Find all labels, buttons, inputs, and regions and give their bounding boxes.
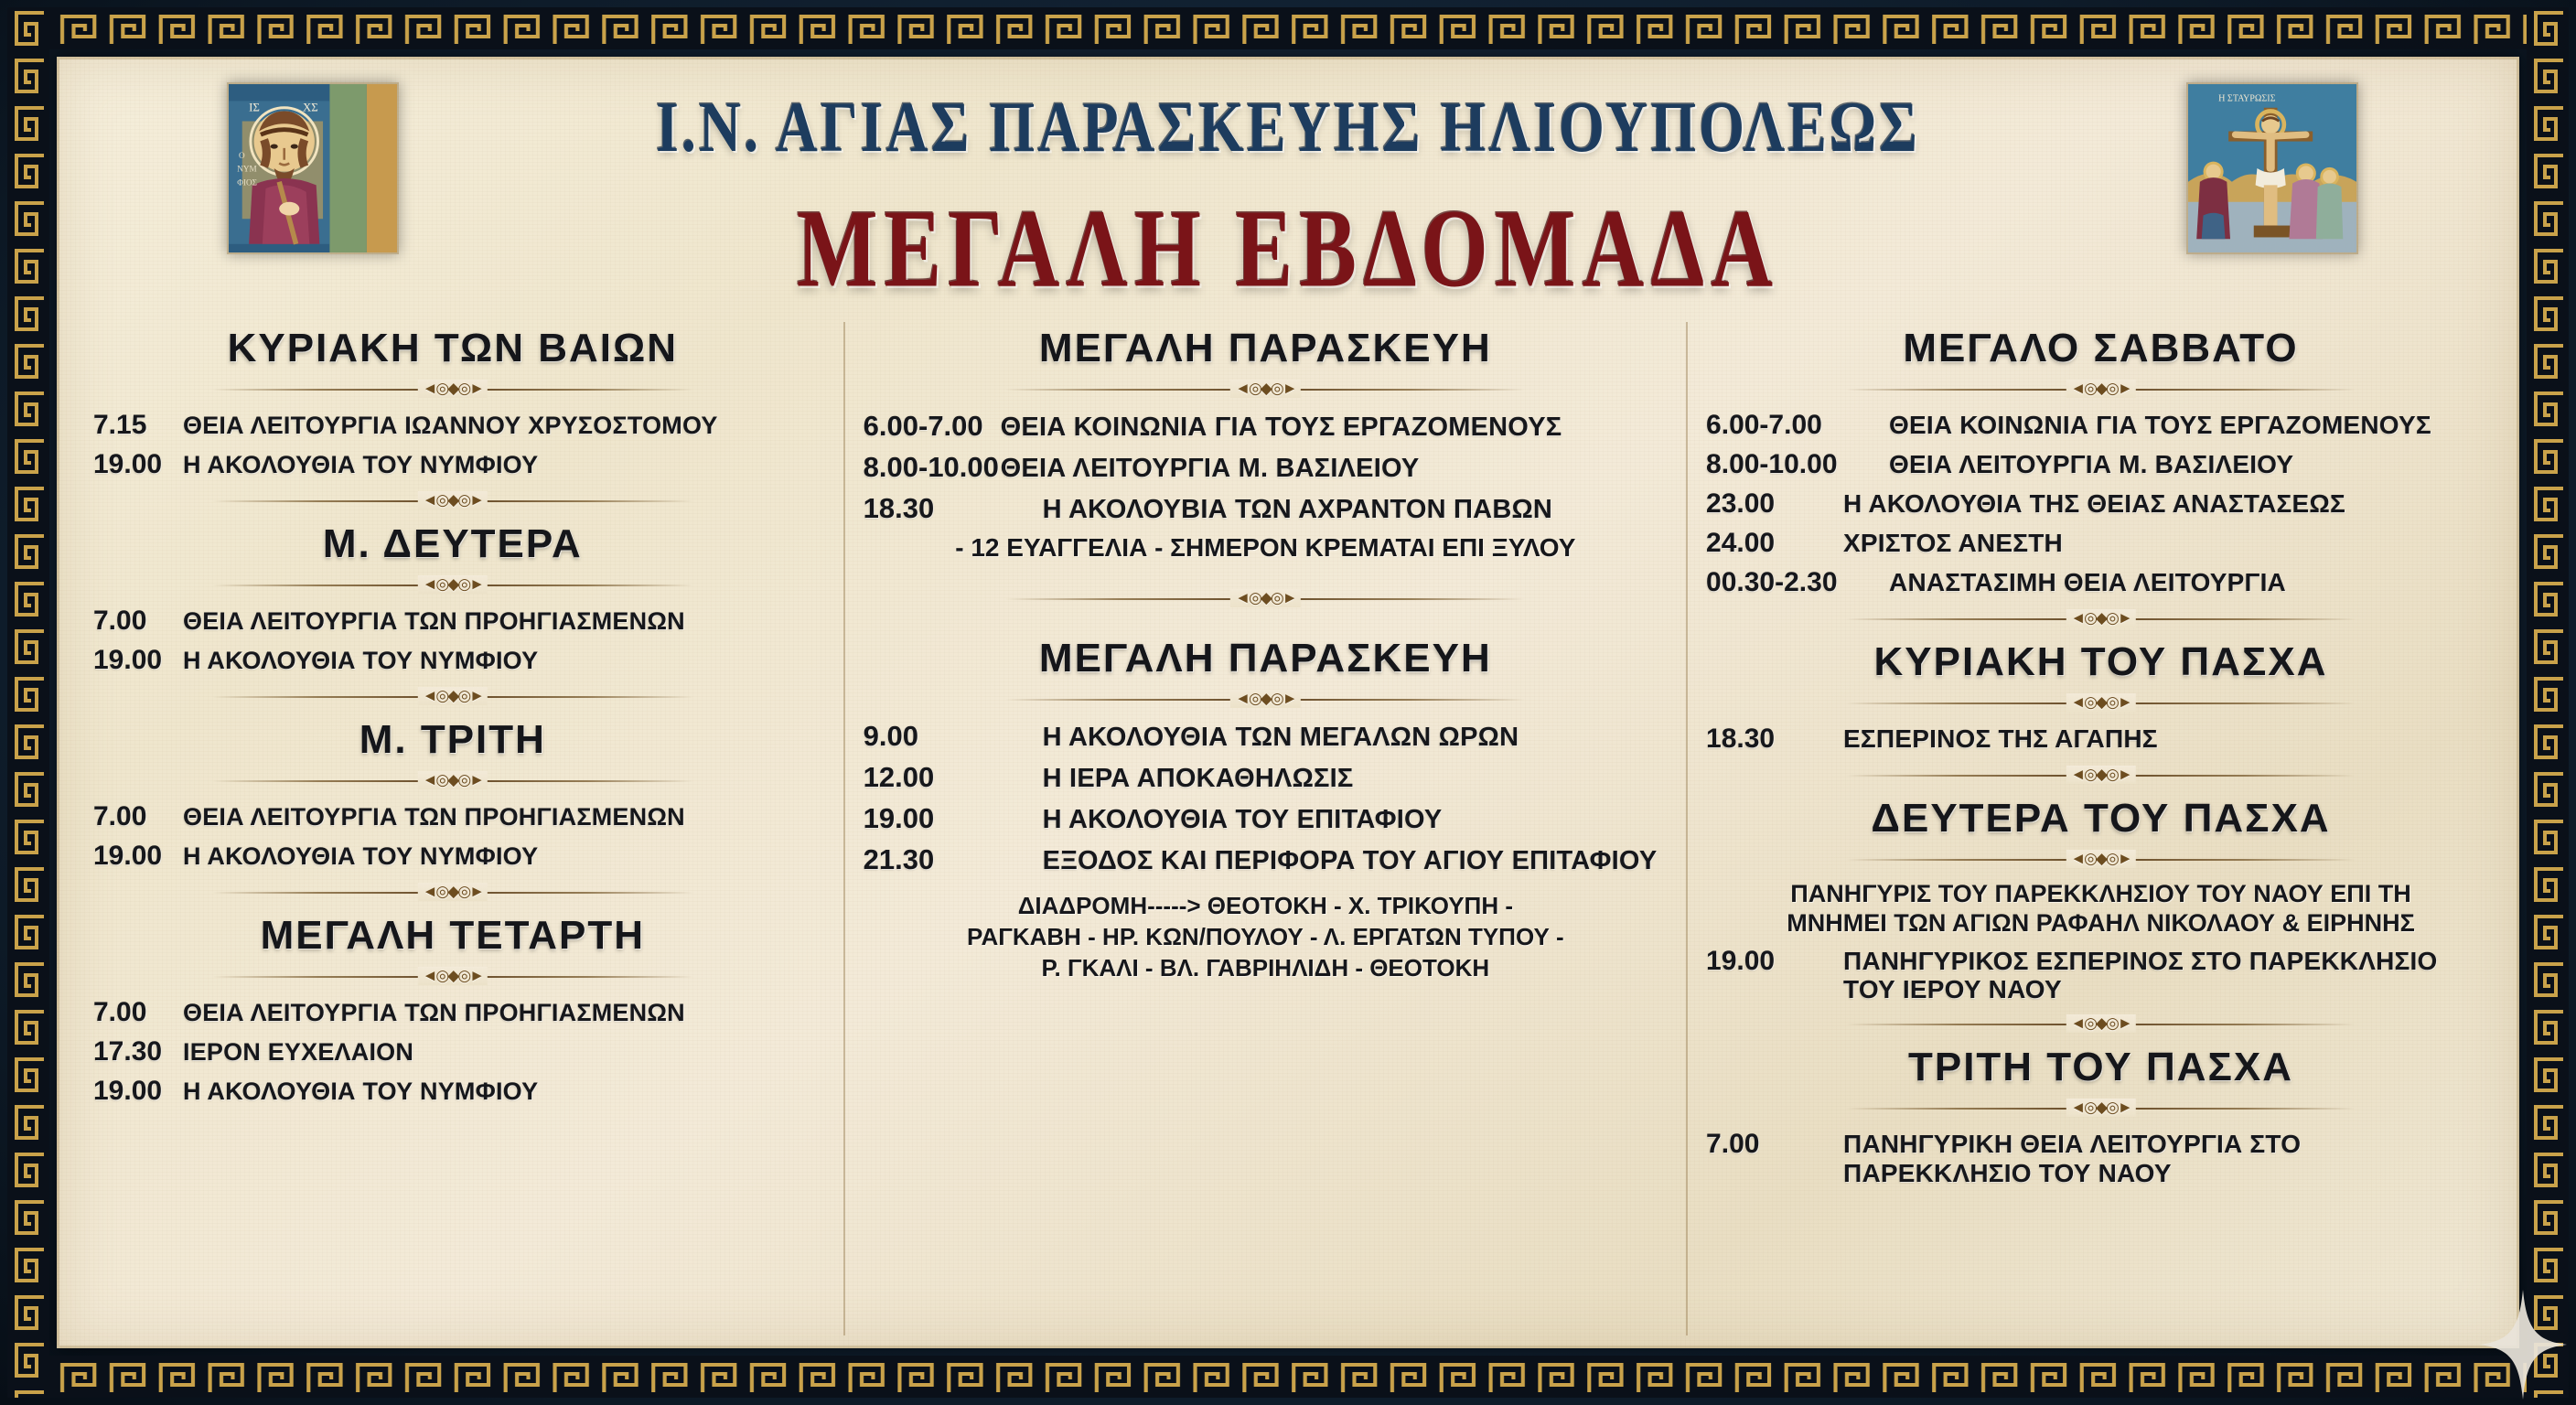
section-title: ΚΥΡΙΑΚΗ ΤΟΥ ΠΑΣΧΑ [1702,639,2499,685]
ornament-divider [1846,691,2356,714]
row-desc: Η ΙΕΡΑ ΑΠΟΚΑΘΗΛΩΣΙΣ [1043,764,1354,793]
schedule-row: 24.00 ΧΡΙΣΤΟΣ ΑΝΕΣΤΗ [1706,528,2495,559]
section-deftera-tou-pascha: ΔΕΥΤΕΡΑ ΤΟΥ ΠΑΣΧΑ ΠΑΝΗΓΥΡΙΣ ΤΟΥ ΠΑΡΕΚΚΛΗ… [1702,796,2499,1003]
ornament-divider [212,377,693,401]
route-line: ΡΑΓΚΑΒΗ - ΗΡ. ΚΩΝ/ΠΟΥΛΟΥ - Λ. ΕΡΓΑΤΩΝ ΤΥ… [860,922,1671,953]
schedule-row: 7.00 ΘΕΙΑ ΛΕΙΤΟΥΡΓΙΑ ΤΩΝ ΠΡΟΗΓΙΑΣΜΕΝΩΝ [80,801,825,832]
schedule-row: 21.30 ΕΞΟΔΟΣ ΚΑΙ ΠΕΡΙΦΟΡΑ ΤΟΥ ΑΓΙΟΥ ΕΠΙΤ… [864,843,1668,876]
page-title-church: Ι.Ν. ΑΓΙΑΣ ΠΑΡΑΣΚΕΥΗΣ ΗΛΙΟΥΠΟΛΕΩΣ [656,86,1920,168]
svg-text:Η ΣΤΑΥΡΩΣΙΣ: Η ΣΤΑΥΡΩΣΙΣ [2218,93,2276,103]
row-time: 7.15 [80,410,183,441]
route-line: Ρ. ΓΚΑΛΙ - ΒΛ. ΓΑΒΡΙΗΛΙΔΗ - ΘΕΟΤΟΚΗ [860,953,1671,984]
section-title: ΜΕΓΑΛΗ ΠΑΡΑΣΚΕΥΗ [860,326,1671,371]
meander-top-svg [7,7,2569,49]
ornament-divider [1846,377,2356,401]
ornament-divider [1846,847,2356,871]
section-rows: 7.00 ΠΑΝΗΓΥΡΙΚΗ ΘΕΙΑ ΛΕΙΤΟΥΡΓΙΑ ΣΤΟ ΠΑΡΕ… [1702,1129,2499,1187]
schedule-columns: ΚΥΡΙΑΚΗ ΤΩΝ ΒΑΙΩΝ 7.15 ΘΕΙΑ ΛΕΙΤΟΥΡΓΙΑ Ι… [57,322,2519,1348]
icon-christ-nymphios: ΙΣ ΧΣ Ο ΝΥΜ ΦΙΟΣ [227,82,399,254]
schedule-row: 18.30 Η ΑΚΟΛΟΥΒΙΑ ΤΩΝ ΑΧΡΑΝΤΟΝ ΠΑΒΩΝ [864,492,1668,525]
crucifixion-artwork: Η ΣΤΑΥΡΩΣΙΣ [2188,84,2356,252]
svg-text:Ο: Ο [239,151,245,160]
row-desc: ΘΕΙΑ ΛΕΙΤΟΥΡΓΙΑ ΤΩΝ ΠΡΟΗΓΙΑΣΜΕΝΩΝ [183,803,685,831]
row-time: 6.00-7.00 [864,410,1001,443]
ornament-divider [212,768,693,792]
section-rows: 7.00 ΘΕΙΑ ΛΕΙΤΟΥΡΓΙΑ ΤΩΝ ΠΡΟΗΓΙΑΣΜΕΝΩΝ 1… [77,997,829,1107]
meander-right-svg [2527,7,2569,1398]
row-time: 7.00 [80,801,183,832]
svg-text:ΦΙΟΣ: ΦΙΟΣ [237,177,257,187]
section-rows: 7.15 ΘΕΙΑ ΛΕΙΤΟΥΡΓΙΑ ΙΩΑΝΝΟΥ ΧΡΥΣΟΣΤΟΜΟΥ… [77,410,829,480]
ornament-divider [1005,687,1525,711]
schedule-row: 6.00-7.00 ΘΕΙΑ ΚΟΙΝΩΝΙΑ ΓΙΑ ΤΟΥΣ ΕΡΓΑΖΟΜ… [1706,410,2495,441]
christ-nymphios-artwork: ΙΣ ΧΣ Ο ΝΥΜ ΦΙΟΣ [229,84,397,252]
spacer [860,619,1671,632]
ornament-divider [212,573,693,596]
greek-key-border-right [2527,7,2569,1398]
section-rows: 19.00 ΠΑΝΗΓΥΡΙΚΟΣ ΕΣΠΕΡΙΝΟΣ ΣΤΟ ΠΑΡΕΚΚΛΗ… [1702,946,2499,1004]
column-middle: ΜΕΓΑΛΗ ΠΑΡΑΣΚΕΥΗ 6.00-7.00 ΘΕΙΑ ΚΟΙΝΩΝΙΑ… [843,322,1686,1335]
section-rows: 6.00-7.00 ΘΕΙΑ ΚΟΙΝΩΝΙΑ ΓΙΑ ΤΟΥΣ ΕΡΓΑΖΟΜ… [1702,410,2499,598]
section-megali-deftera: Μ. ΔΕΥΤΕΡΑ 7.00 ΘΕΙΑ ΛΕΙΤΟΥΡΓΙΑ ΤΩΝ ΠΡΟΗ… [77,521,829,676]
ornament-divider [1846,763,2356,787]
row-desc: ΑΝΑΣΤΑΣΙΜΗ ΘΕΙΑ ΛΕΙΤΟΥΡΓΙΑ [1889,568,2286,596]
schedule-row: 19.00 Η ΑΚΟΛΟΥΘΙΑ ΤΟΥ ΝΥΜΦΙΟΥ [80,645,825,676]
ornament-divider [1005,377,1525,401]
schedule-row: 9.00 Η ΑΚΟΛΟΥΘΙΑ ΤΩΝ ΜΕΓΑΛΩΝ ΩΡΩΝ [864,720,1668,753]
row-time: 8.00-10.00 [864,451,1001,484]
row-time: 18.30 [864,492,1043,525]
schedule-row: 19.00 Η ΑΚΟΛΟΥΘΙΑ ΤΟΥ ΝΥΜΦΙΟΥ [80,449,825,480]
row-desc: ΙΕΡΟΝ ΕΥΧΕΛΑΙΟΝ [183,1038,413,1066]
row-time: 24.00 [1706,528,1843,559]
section-title: ΚΥΡΙΑΚΗ ΤΩΝ ΒΑΙΩΝ [77,326,829,371]
procession-route: ΔΙΑΔΡΟΜΗ-----> ΘΕΟΤΟΚΗ - Χ. ΤΡΙΚΟΥΠΗ - Ρ… [860,891,1671,983]
row-desc: ΠΑΝΗΓΥΡΙΚΟΣ ΕΣΠΕΡΙΝΟΣ ΣΤΟ ΠΑΡΕΚΚΛΗΣΙΟ ΤΟ… [1843,947,2495,1004]
row-desc: ΕΣΠΕΡΙΝΟΣ ΤΗΣ ΑΓΑΠΗΣ [1843,724,2158,753]
column-left: ΚΥΡΙΑΚΗ ΤΩΝ ΒΑΙΩΝ 7.15 ΘΕΙΑ ΛΕΙΤΟΥΡΓΙΑ Ι… [62,322,843,1335]
section-note: - 12 ΕΥΑΓΓΕΛΙΑ - ΣΗΜΕΡΟΝ ΚΡΕΜΑΤΑΙ ΕΠΙ ΞΥ… [860,533,1671,563]
ornament-divider [1846,1012,2356,1035]
schedule-row: 19.00 Η ΑΚΟΛΟΥΘΙΑ ΤΟΥ ΕΠΙΤΑΦΙΟΥ [864,802,1668,835]
section-triti-tou-pascha: ΤΡΙΤΗ ΤΟΥ ΠΑΣΧΑ 7.00 ΠΑΝΗΓΥΡΙΚΗ ΘΕΙΑ ΛΕΙ… [1702,1045,2499,1187]
schedule-row: 6.00-7.00 ΘΕΙΑ ΚΟΙΝΩΝΙΑ ΓΙΑ ΤΟΥΣ ΕΡΓΑΖΟΜ… [864,410,1668,443]
subtext-line: ΜΝΗΜΕΙ ΤΩΝ ΑΓΙΩΝ ΡΑΦΑΗΛ ΝΙΚΟΛΑΟΥ & ΕΙΡΗΝ… [1702,909,2499,938]
row-time: 19.00 [80,841,183,872]
section-megali-paraskevi-2: ΜΕΓΑΛΗ ΠΑΡΑΣΚΕΥΗ 9.00 Η ΑΚΟΛΟΥΘΙΑ ΤΩΝ ΜΕ… [860,636,1671,983]
greek-key-border-top [7,7,2569,49]
schedule-row: 7.00 ΠΑΝΗΓΥΡΙΚΗ ΘΕΙΑ ΛΕΙΤΟΥΡΓΙΑ ΣΤΟ ΠΑΡΕ… [1706,1129,2495,1187]
row-time: 19.00 [80,1076,183,1107]
section-rows: 7.00 ΘΕΙΑ ΛΕΙΤΟΥΡΓΙΑ ΤΩΝ ΠΡΟΗΓΙΑΣΜΕΝΩΝ 1… [77,801,829,872]
row-time: 21.30 [864,843,1043,876]
row-time: 19.00 [80,449,183,480]
section-megali-tetarti: ΜΕΓΑΛΗ ΤΕΤΑΡΤΗ 7.00 ΘΕΙΑ ΛΕΙΤΟΥΡΓΙΑ ΤΩΝ … [77,913,829,1107]
row-desc: Η ΑΚΟΛΟΥΘΙΑ ΤΟΥ ΝΥΜΦΙΟΥ [183,647,538,674]
svg-text:ΧΣ: ΧΣ [303,101,318,113]
column-right: ΜΕΓΑΛΟ ΣΑΒΒΑΤΟ 6.00-7.00 ΘΕΙΑ ΚΟΙΝΩΝΙΑ Γ… [1686,322,2514,1335]
row-time: 9.00 [864,720,1043,753]
meander-left-svg [7,7,49,1398]
section-title: ΜΕΓΑΛΟ ΣΑΒΒΑΤΟ [1702,326,2499,371]
row-time: 7.00 [1706,1129,1843,1160]
section-title: Μ. ΔΕΥΤΕΡΑ [77,521,829,567]
row-desc: ΧΡΙΣΤΟΣ ΑΝΕΣΤΗ [1843,529,2063,557]
section-megalo-savvato: ΜΕΓΑΛΟ ΣΑΒΒΑΤΟ 6.00-7.00 ΘΕΙΑ ΚΟΙΝΩΝΙΑ Γ… [1702,326,2499,598]
schedule-row: 8.00-10.00 ΘΕΙΑ ΛΕΙΤΟΥΡΓΙΑ Μ. ΒΑΣΙΛΕΙΟΥ [864,451,1668,484]
row-desc: Η ΑΚΟΛΟΥΘΙΑ ΤΗΣ ΘΕΙΑΣ ΑΝΑΣΤΑΣΕΩΣ [1843,489,2345,518]
row-desc: ΘΕΙΑ ΛΕΙΤΟΥΡΓΙΑ ΤΩΝ ΠΡΟΗΓΙΑΣΜΕΝΩΝ [183,607,685,635]
schedule-row: 00.30-2.30 ΑΝΑΣΤΑΣΙΜΗ ΘΕΙΑ ΛΕΙΤΟΥΡΓΙΑ [1706,567,2495,598]
row-desc: Η ΑΚΟΛΟΥΒΙΑ ΤΩΝ ΑΧΡΑΝΤΟΝ ΠΑΒΩΝ [1043,495,1552,524]
ornament-divider [1846,1096,2356,1120]
schedule-row: 17.30 ΙΕΡΟΝ ΕΥΧΕΛΑΙΟΝ [80,1036,825,1067]
section-title: ΜΕΓΑΛΗ ΠΑΡΑΣΚΕΥΗ [860,636,1671,681]
row-time: 7.00 [80,606,183,637]
ornament-divider [1846,606,2356,630]
row-desc: ΘΕΙΑ ΛΕΙΤΟΥΡΓΙΑ Μ. ΒΑΣΙΛΕΙΟΥ [1889,450,2293,478]
ornament-divider [212,964,693,988]
section-rows: 7.00 ΘΕΙΑ ΛΕΙΤΟΥΡΓΙΑ ΤΩΝ ΠΡΟΗΓΙΑΣΜΕΝΩΝ 1… [77,606,829,676]
section-megali-paraskevi-1: ΜΕΓΑΛΗ ΠΑΡΑΣΚΕΥΗ 6.00-7.00 ΘΕΙΑ ΚΟΙΝΩΝΙΑ… [860,326,1671,563]
row-desc: Η ΑΚΟΛΟΥΘΙΑ ΤΩΝ ΜΕΓΑΛΩΝ ΩΡΩΝ [1043,723,1519,752]
section-title: ΔΕΥΤΕΡΑ ΤΟΥ ΠΑΣΧΑ [1702,796,2499,842]
section-rows: 6.00-7.00 ΘΕΙΑ ΚΟΙΝΩΝΙΑ ΓΙΑ ΤΟΥΣ ΕΡΓΑΖΟΜ… [860,410,1671,525]
page-title-holyweek: ΜΕΓΑΛΗ ΕΒΔΟΜΑΔΑ [656,185,1920,313]
poster-header: ΙΣ ΧΣ Ο ΝΥΜ ΦΙΟΣ Ι.Ν. ΑΓΙΑΣ ΠΑΡΑΣΚΕΥΗΣ Η… [57,57,2519,322]
ornament-divider [212,684,693,708]
section-megali-triti: Μ. ΤΡΙΤΗ 7.00 ΘΕΙΑ ΛΕΙΤΟΥΡΓΙΑ ΤΩΝ ΠΡΟΗΓΙ… [77,717,829,872]
schedule-row: 7.00 ΘΕΙΑ ΛΕΙΤΟΥΡΓΙΑ ΤΩΝ ΠΡΟΗΓΙΑΣΜΕΝΩΝ [80,997,825,1028]
route-line: ΔΙΑΔΡΟΜΗ-----> ΘΕΟΤΟΚΗ - Χ. ΤΡΙΚΟΥΠΗ - [860,891,1671,922]
row-time: 19.00 [864,802,1043,835]
row-desc: Η ΑΚΟΛΟΥΘΙΑ ΤΟΥ ΕΠΙΤΑΦΙΟΥ [1043,805,1443,834]
row-time: 12.00 [864,761,1043,794]
row-time: 00.30-2.30 [1706,567,1889,598]
schedule-row: 18.30 ΕΣΠΕΡΙΝΟΣ ΤΗΣ ΑΓΑΠΗΣ [1706,724,2495,755]
schedule-row: 19.00 Η ΑΚΟΛΟΥΘΙΑ ΤΟΥ ΝΥΜΦΙΟΥ [80,841,825,872]
poster-root: ΙΣ ΧΣ Ο ΝΥΜ ΦΙΟΣ Ι.Ν. ΑΓΙΑΣ ΠΑΡΑΣΚΕΥΗΣ Η… [0,0,2576,1405]
section-title: ΜΕΓΑΛΗ ΤΕΤΑΡΤΗ [77,913,829,959]
row-desc: ΠΑΝΗΓΥΡΙΚΗ ΘΕΙΑ ΛΕΙΤΟΥΡΓΙΑ ΣΤΟ ΠΑΡΕΚΚΛΗΣ… [1843,1130,2495,1187]
row-desc: ΘΕΙΑ ΚΟΙΝΩΝΙΑ ΓΙΑ ΤΟΥΣ ΕΡΓΑΖΟΜΕΝΟΥΣ [1001,413,1562,442]
row-desc: Η ΑΚΟΛΟΥΘΙΑ ΤΟΥ ΝΥΜΦΙΟΥ [183,1078,538,1105]
meander-bottom-svg [7,1356,2569,1398]
schedule-row: 7.00 ΘΕΙΑ ΛΕΙΤΟΥΡΓΙΑ ΤΩΝ ΠΡΟΗΓΙΑΣΜΕΝΩΝ [80,606,825,637]
row-time: 23.00 [1706,488,1843,520]
svg-text:ΝΥΜ: ΝΥΜ [237,165,256,174]
parchment-panel: ΙΣ ΧΣ Ο ΝΥΜ ΦΙΟΣ Ι.Ν. ΑΓΙΑΣ ΠΑΡΑΣΚΕΥΗΣ Η… [57,57,2519,1348]
row-time: 6.00-7.00 [1706,410,1889,441]
section-subtext: ΠΑΝΗΓΥΡΙΣ ΤΟΥ ΠΑΡΕΚΚΛΗΣΙΟΥ ΤΟΥ ΝΑΟΥ ΕΠΙ … [1702,880,2499,938]
section-rows: 9.00 Η ΑΚΟΛΟΥΘΙΑ ΤΩΝ ΜΕΓΑΛΩΝ ΩΡΩΝ 12.00 … [860,720,1671,876]
row-time: 19.00 [1706,946,1843,977]
svg-text:ΙΣ: ΙΣ [249,101,260,113]
row-desc: ΘΕΙΑ ΛΕΙΤΟΥΡΓΙΑ ΙΩΑΝΝΟΥ ΧΡΥΣΟΣΤΟΜΟΥ [183,412,718,439]
row-desc: Η ΑΚΟΛΟΥΘΙΑ ΤΟΥ ΝΥΜΦΙΟΥ [183,842,538,870]
subtext-line: ΠΑΝΗΓΥΡΙΣ ΤΟΥ ΠΑΡΕΚΚΛΗΣΙΟΥ ΤΟΥ ΝΑΟΥ ΕΠΙ … [1702,880,2499,909]
greek-key-border-bottom [7,1356,2569,1398]
ornament-divider [1005,586,1525,610]
spacer [860,568,1671,581]
row-desc: Η ΑΚΟΛΟΥΘΙΑ ΤΟΥ ΝΥΜΦΙΟΥ [183,451,538,478]
ornament-divider [212,488,693,512]
row-time: 19.00 [80,645,183,676]
row-time: 18.30 [1706,724,1843,755]
row-desc: ΕΞΟΔΟΣ ΚΑΙ ΠΕΡΙΦΟΡΑ ΤΟΥ ΑΓΙΟΥ ΕΠΙΤΑΦΙΟΥ [1043,846,1658,875]
row-time: 17.30 [80,1036,183,1067]
section-rows: 18.30 ΕΣΠΕΡΙΝΟΣ ΤΗΣ ΑΓΑΠΗΣ [1702,724,2499,755]
schedule-row: 12.00 Η ΙΕΡΑ ΑΠΟΚΑΘΗΛΩΣΙΣ [864,761,1668,794]
schedule-row: 19.00 Η ΑΚΟΛΟΥΘΙΑ ΤΟΥ ΝΥΜΦΙΟΥ [80,1076,825,1107]
section-title: Μ. ΤΡΙΤΗ [77,717,829,763]
icon-crucifixion: Η ΣΤΑΥΡΩΣΙΣ [2186,82,2358,254]
row-time: 8.00-10.00 [1706,449,1889,480]
row-desc: ΘΕΙΑ ΛΕΙΤΟΥΡΓΙΑ ΤΩΝ ΠΡΟΗΓΙΑΣΜΕΝΩΝ [183,999,685,1026]
ornament-divider [212,880,693,904]
row-desc: ΘΕΙΑ ΛΕΙΤΟΥΡΓΙΑ Μ. ΒΑΣΙΛΕΙΟΥ [1001,454,1420,483]
section-kyriaki-ton-vaion: ΚΥΡΙΑΚΗ ΤΩΝ ΒΑΙΩΝ 7.15 ΘΕΙΑ ΛΕΙΤΟΥΡΓΙΑ Ι… [77,326,829,480]
title-block: Ι.Ν. ΑΓΙΑΣ ΠΑΡΑΣΚΕΥΗΣ ΗΛΙΟΥΠΟΛΕΩΣ ΜΕΓΑΛΗ… [656,70,1920,284]
greek-key-border-left [7,7,49,1398]
schedule-row: 7.15 ΘΕΙΑ ΛΕΙΤΟΥΡΓΙΑ ΙΩΑΝΝΟΥ ΧΡΥΣΟΣΤΟΜΟΥ [80,410,825,441]
section-kyriaki-tou-pascha: ΚΥΡΙΑΚΗ ΤΟΥ ΠΑΣΧΑ 18.30 ΕΣΠΕΡΙΝΟΣ ΤΗΣ ΑΓ… [1702,639,2499,755]
schedule-row: 8.00-10.00 ΘΕΙΑ ΛΕΙΤΟΥΡΓΙΑ Μ. ΒΑΣΙΛΕΙΟΥ [1706,449,2495,480]
schedule-row: 23.00 Η ΑΚΟΛΟΥΘΙΑ ΤΗΣ ΘΕΙΑΣ ΑΝΑΣΤΑΣΕΩΣ [1706,488,2495,520]
schedule-row: 19.00 ΠΑΝΗΓΥΡΙΚΟΣ ΕΣΠΕΡΙΝΟΣ ΣΤΟ ΠΑΡΕΚΚΛΗ… [1706,946,2495,1004]
row-time: 7.00 [80,997,183,1028]
row-desc: ΘΕΙΑ ΚΟΙΝΩΝΙΑ ΓΙΑ ΤΟΥΣ ΕΡΓΑΖΟΜΕΝΟΥΣ [1889,411,2431,439]
section-title: ΤΡΙΤΗ ΤΟΥ ΠΑΣΧΑ [1702,1045,2499,1090]
